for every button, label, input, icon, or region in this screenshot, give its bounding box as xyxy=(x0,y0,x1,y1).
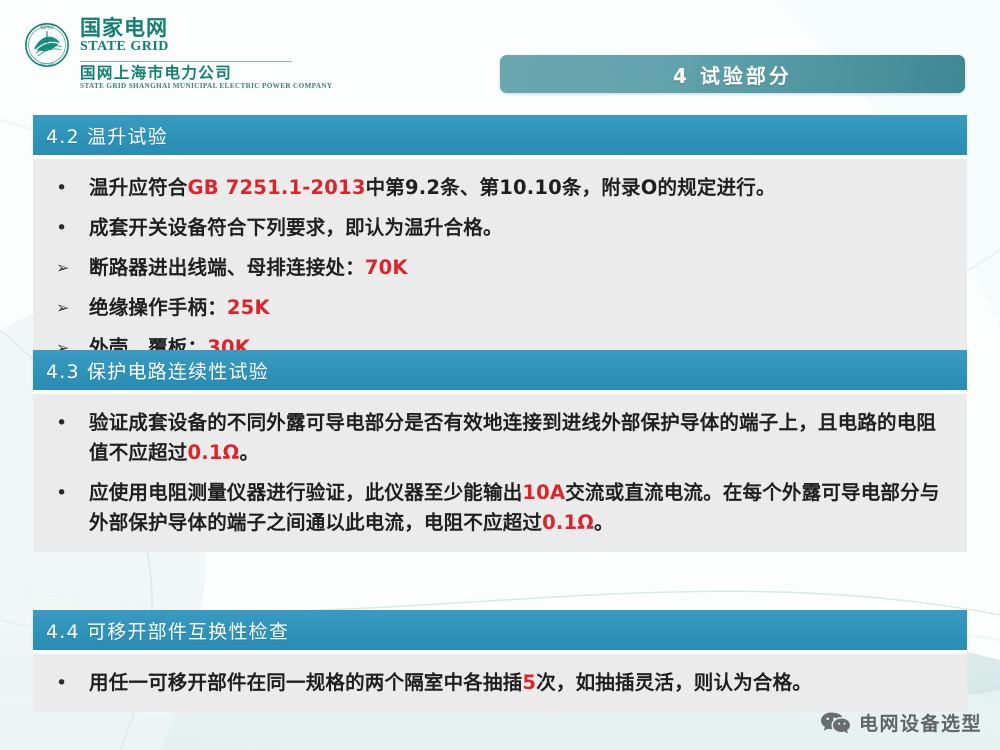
bullet-text: 成套开关设备符合下列要求，即认为温升合格。 xyxy=(89,213,949,243)
section-4.3: 4.3 保护电路连续性试验•验证成套设备的不同外露可导电部分是否有效地连接到进线… xyxy=(33,350,967,552)
bullet-text: 断路器进出线端、母排连接处：70K xyxy=(89,253,949,283)
highlighted-value: 5 xyxy=(522,671,536,694)
bullet-line: ➢断路器进出线端、母排连接处：70K xyxy=(47,253,949,283)
state-grid-logo: 国家电网 STATE GRID 国家电网 STATE GRID 国网上海市电力公… xyxy=(24,18,332,90)
text-run: 温升应符合 xyxy=(89,176,188,199)
dot-bullet-icon: • xyxy=(47,478,89,508)
wechat-icon xyxy=(820,710,850,736)
logo-subtitle-cn: 国网上海市电力公司 xyxy=(80,65,332,82)
bullet-line: •用任一可移开部件在同一规格的两个隔室中各抽插5次，如抽插灵活，则认为合格。 xyxy=(47,668,949,698)
section-header-4.3: 4.3 保护电路连续性试验 xyxy=(33,350,967,390)
bullet-text: 应使用电阻测量仪器进行验证，此仪器至少能输出10A交流或直流电流。在每个外露可导… xyxy=(89,478,949,538)
highlighted-value: GB 7251.1-2013 xyxy=(188,176,366,199)
section-heading-text: 4.4 可移开部件互换性检查 xyxy=(46,617,289,644)
text-run: 。 xyxy=(239,441,259,464)
svg-text:STATE GRID: STATE GRID xyxy=(40,62,55,66)
bullet-line: ➢绝缘操作手柄：25K xyxy=(47,293,949,323)
logo-divider xyxy=(80,61,292,62)
slide-title-banner: 4 试验部分 xyxy=(500,55,965,93)
arrow-bullet-icon: ➢ xyxy=(47,253,89,283)
dot-bullet-icon: • xyxy=(47,173,89,203)
section-body-4.2: •温升应符合GB 7251.1-2013中第9.2条、第10.10条，附录O的规… xyxy=(33,155,967,377)
slide-canvas: 国家电网 STATE GRID 国家电网 STATE GRID 国网上海市电力公… xyxy=(0,0,1000,750)
logo-subtitle-en: STATE GRID SHANGHAI MUNICIPAL ELECTRIC P… xyxy=(80,82,332,91)
section-header-4.2: 4.2 温升试验 xyxy=(33,115,967,155)
text-run: 。 xyxy=(594,511,614,534)
text-run: 断路器进出线端、母排连接处： xyxy=(89,256,365,279)
section-body-4.4: •用任一可移开部件在同一规格的两个隔室中各抽插5次，如抽插灵活，则认为合格。 xyxy=(33,650,967,712)
highlighted-value: 0.1Ω xyxy=(542,511,594,534)
section-4.2: 4.2 温升试验•温升应符合GB 7251.1-2013中第9.2条、第10.1… xyxy=(33,115,967,377)
bullet-text: 温升应符合GB 7251.1-2013中第9.2条、第10.10条，附录O的规定… xyxy=(89,173,949,203)
highlighted-value: 70K xyxy=(365,256,408,279)
highlighted-value: 10A xyxy=(522,481,565,504)
state-grid-emblem-icon: 国家电网 STATE GRID xyxy=(24,22,70,68)
arrow-bullet-icon: ➢ xyxy=(47,293,89,323)
slide-title: 4 试验部分 xyxy=(673,60,792,89)
bullet-line: •成套开关设备符合下列要求，即认为温升合格。 xyxy=(47,213,949,243)
highlighted-value: 25K xyxy=(227,296,270,319)
svg-text:国家电网: 国家电网 xyxy=(41,24,54,29)
section-body-4.3: •验证成套设备的不同外露可导电部分是否有效地连接到进线外部保护导体的端子上，且电… xyxy=(33,390,967,552)
text-run: 用任一可移开部件在同一规格的两个隔室中各抽插 xyxy=(89,671,522,694)
bullet-line: •验证成套设备的不同外露可导电部分是否有效地连接到进线外部保护导体的端子上，且电… xyxy=(47,408,949,468)
text-run: 中第9.2条、第10.10条，附录O的规定进行。 xyxy=(366,176,776,199)
text-run: 成套开关设备符合下列要求，即认为温升合格。 xyxy=(89,216,503,239)
text-run: 次，如抽插灵活，则认为合格。 xyxy=(536,671,812,694)
section-heading-text: 4.2 温升试验 xyxy=(46,122,168,149)
highlighted-value: 0.1Ω xyxy=(188,441,240,464)
dot-bullet-icon: • xyxy=(47,668,89,698)
section-4.4: 4.4 可移开部件互换性检查•用任一可移开部件在同一规格的两个隔室中各抽插5次，… xyxy=(33,610,967,712)
dot-bullet-icon: • xyxy=(47,213,89,243)
bullet-line: •应使用电阻测量仪器进行验证，此仪器至少能输出10A交流或直流电流。在每个外露可… xyxy=(47,478,949,538)
text-run: 绝缘操作手柄： xyxy=(89,296,227,319)
bullet-text: 绝缘操作手柄：25K xyxy=(89,293,949,323)
bullet-text: 用任一可移开部件在同一规格的两个隔室中各抽插5次，如抽插灵活，则认为合格。 xyxy=(89,668,949,698)
text-run: 应使用电阻测量仪器进行验证，此仪器至少能输出 xyxy=(89,481,522,504)
section-header-4.4: 4.4 可移开部件互换性检查 xyxy=(33,610,967,650)
section-heading-text: 4.3 保护电路连续性试验 xyxy=(46,357,269,384)
bullet-line: •温升应符合GB 7251.1-2013中第9.2条、第10.10条，附录O的规… xyxy=(47,173,949,203)
dot-bullet-icon: • xyxy=(47,408,89,438)
wechat-account-badge: 电网设备选型 xyxy=(820,709,982,736)
logo-title-en: STATE GRID xyxy=(80,39,332,55)
logo-title-cn: 国家电网 xyxy=(80,18,332,39)
wechat-account-name: 电网设备选型 xyxy=(859,709,982,736)
bullet-text: 验证成套设备的不同外露可导电部分是否有效地连接到进线外部保护导体的端子上，且电路… xyxy=(89,408,949,468)
